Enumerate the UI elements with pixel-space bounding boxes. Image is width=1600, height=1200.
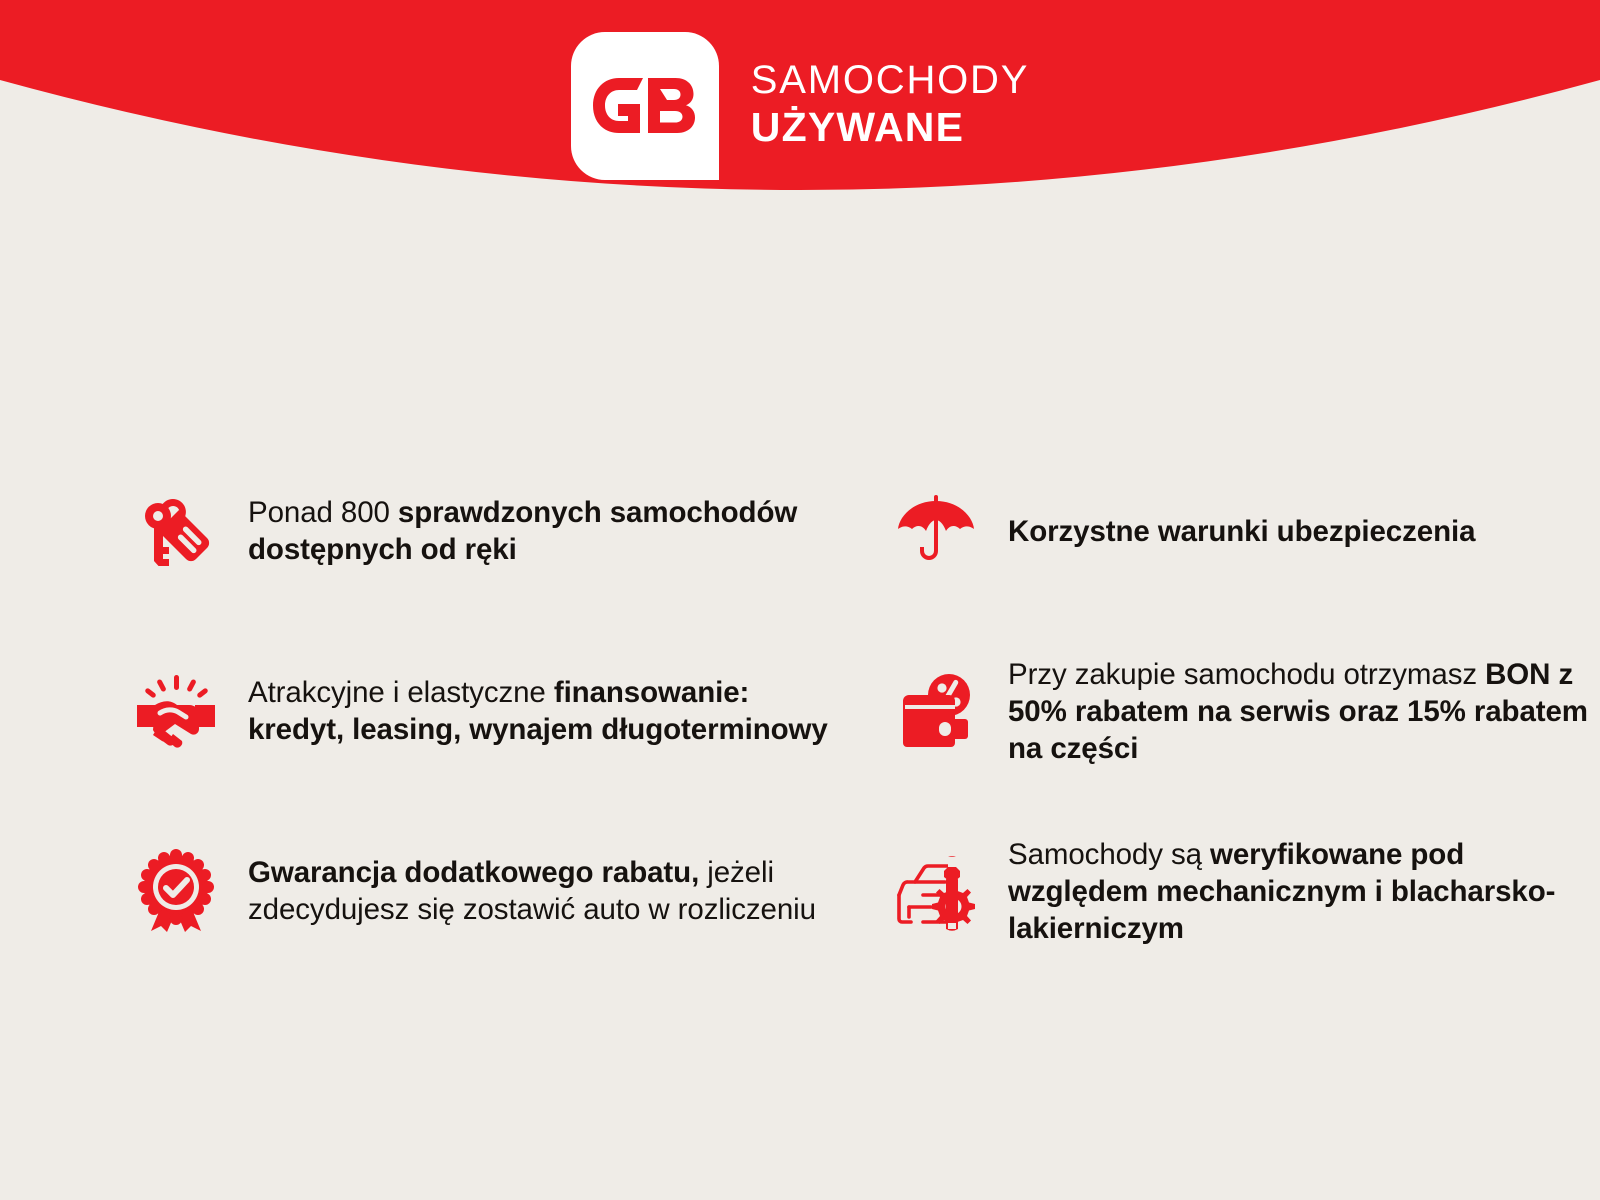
- wallet-percent-icon: [890, 664, 982, 756]
- brand-wordmark: SAMOCHODY UŻYWANE: [751, 60, 1029, 152]
- benefit-item-financing: Atrakcyjne i elastyczne finansowanie: kr…: [130, 620, 850, 800]
- benefit-text: Korzystne warunki ubezpieczenia: [1008, 511, 1475, 550]
- handshake-icon: [130, 664, 222, 756]
- gb-logo-icon: [593, 78, 697, 134]
- benefit-text: Atrakcyjne i elastyczne finansowanie: kr…: [248, 672, 828, 748]
- brand-line-1: SAMOCHODY: [751, 60, 1029, 100]
- brand-lockup: SAMOCHODY UŻYWANE: [0, 32, 1600, 180]
- benefit-text-regular: Atrakcyjne i elastyczne: [248, 676, 554, 709]
- umbrella-icon: [890, 484, 982, 576]
- benefit-text: Przy zakupie samochodu otrzymasz BON z 5…: [1008, 654, 1588, 767]
- benefits-grid: Ponad 800 sprawdzonych samochodów dostęp…: [0, 440, 1600, 980]
- gb-logo-mark: [571, 32, 719, 180]
- benefit-text-bold: Korzystne warunki ubezpieczenia: [1008, 515, 1475, 548]
- benefit-text: Gwarancja dodatkowego rabatu, jeżeli zde…: [248, 852, 828, 928]
- benefit-item-insurance: Korzystne warunki ubezpieczenia: [890, 440, 1600, 620]
- benefit-text-regular: Samochody są: [1008, 838, 1210, 871]
- benefit-item-voucher: Przy zakupie samochodu otrzymasz BON z 5…: [890, 620, 1600, 800]
- benefit-text-regular: Przy zakupie samochodu otrzymasz: [1008, 658, 1485, 691]
- header-banner: SAMOCHODY UŻYWANE: [0, 0, 1600, 260]
- car-service-icon: [890, 844, 982, 936]
- car-key-icon: [130, 484, 222, 576]
- benefit-item-inspection: Samochody są weryfikowane pod względem m…: [890, 800, 1600, 980]
- benefit-text-regular: Ponad 800: [248, 496, 398, 529]
- benefit-text: Samochody są weryfikowane pod względem m…: [1008, 834, 1588, 947]
- benefit-text-bold: Gwarancja dodatkowego rabatu,: [248, 856, 699, 889]
- brand-line-2: UŻYWANE: [751, 107, 1029, 148]
- benefit-text: Ponad 800 sprawdzonych samochodów dostęp…: [248, 492, 828, 568]
- benefit-item-guarantee: Gwarancja dodatkowego rabatu, jeżeli zde…: [130, 800, 850, 980]
- benefit-item-car-keys: Ponad 800 sprawdzonych samochodów dostęp…: [130, 440, 850, 620]
- award-badge-icon: [130, 844, 222, 936]
